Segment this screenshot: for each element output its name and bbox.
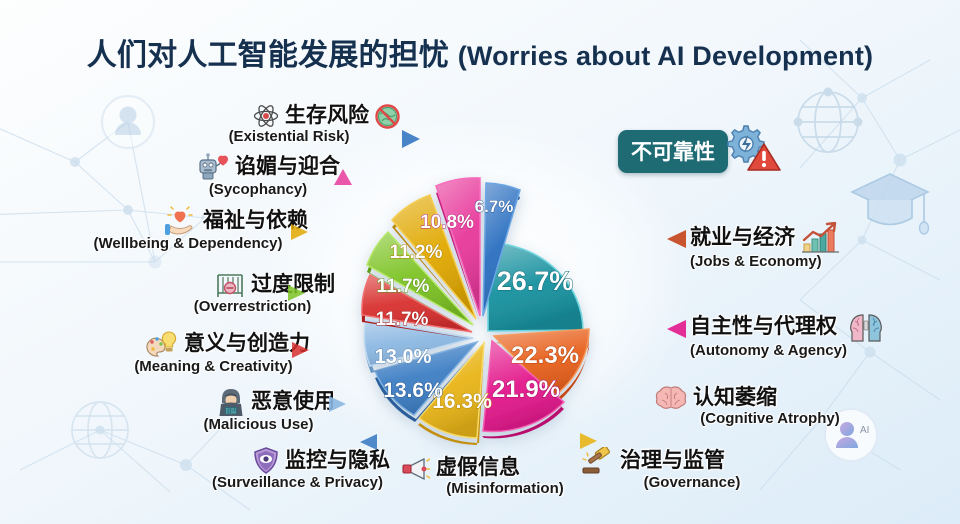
title-cn: 人们对人工智能发展的担忧 <box>87 39 449 72</box>
slice-value-unreliability: 26.7% <box>497 266 574 296</box>
shield-eye-icon <box>253 447 279 475</box>
person-avatar-icon <box>102 96 154 148</box>
unreliability-badge-label: 不可靠性 <box>631 136 715 166</box>
callout-misinformation: 虚假信息 (Misinformation) <box>400 455 580 497</box>
title-en: (Worries about AI Development) <box>458 41 874 71</box>
callout-malicious: D1101E1100 恶意使用 (Malicious Use) <box>160 387 335 433</box>
megaphone-icon <box>400 455 430 481</box>
marker-existential-risk <box>400 128 422 150</box>
ai-node-label: AI <box>860 425 869 436</box>
marker-autonomy <box>665 318 687 340</box>
callout-meaning: 意义与创造力 (Meaning & Creativity) <box>95 329 310 375</box>
slice-value-autonomy-agency: 21.9% <box>492 376 560 403</box>
marker-surveillance <box>358 432 378 452</box>
slice-value-meaning-creativity: 11.7% <box>377 276 430 297</box>
slice-value-overrestriction: 11.2% <box>390 242 443 263</box>
callout-label-en: (Malicious Use) <box>160 417 335 433</box>
fence-block-icon <box>215 271 245 299</box>
slice-value-sycophancy: 6.7% <box>475 197 514 216</box>
marker-malicious <box>327 394 347 414</box>
hacker-icon: D1101E1100 <box>217 387 245 417</box>
callout-cognitive-atrophy: 认知萎缩 (Cognitive Atrophy) <box>655 385 855 427</box>
slice-value-wellbeing-dependency: 10.8% <box>420 212 474 233</box>
callout-label-cn: 监控与隐私 <box>285 450 390 472</box>
callout-label-en: (Existential Risk) <box>200 129 400 145</box>
callout-overrestriction: 过度限制 (Overrestriction) <box>150 271 335 315</box>
slice-value-jobs-economy: 22.3% <box>511 342 579 369</box>
callout-sycophancy: 谄媚与迎合 (Sycophancy) <box>150 152 340 198</box>
marker-meaning <box>290 340 310 360</box>
marker-wellbeing <box>289 222 309 242</box>
marker-jobs <box>665 228 687 250</box>
callout-governance: 治理与监管 (Governance) <box>582 447 772 491</box>
growth-chart-icon <box>801 222 843 254</box>
palette-bulb-icon <box>144 329 178 359</box>
callout-existential-risk: 生存风险 (Existential Risk) <box>200 103 400 145</box>
callout-label-cn: 自主性与代理权 <box>690 316 837 338</box>
callout-label-cn: 恶意使用 <box>251 391 335 413</box>
dual-brain-heads-icon <box>843 311 889 343</box>
callout-label-cn: 治理与监管 <box>620 450 725 472</box>
callout-label-en: (Sycophancy) <box>150 182 340 198</box>
callout-label-cn: 认知萎缩 <box>693 387 777 409</box>
callout-label-en: (Autonomy & Agency) <box>690 343 925 359</box>
callout-label-en: (Surveillance & Privacy) <box>185 475 390 491</box>
callout-jobs: 就业与经济 (Jobs & Economy) <box>690 222 925 270</box>
callout-label-en: (Wellbeing & Dependency) <box>68 236 308 252</box>
callout-label-en: (Jobs & Economy) <box>690 254 925 270</box>
slice-value-malicious-use: 11.7% <box>376 309 429 330</box>
callout-label-en: (Governance) <box>582 475 772 491</box>
callout-surveillance: 监控与隐私 (Surveillance & Privacy) <box>185 447 390 491</box>
callout-label-en: (Meaning & Creativity) <box>95 359 310 375</box>
callout-label-cn: 虚假信息 <box>436 457 520 479</box>
brain-icon <box>655 385 687 411</box>
marker-governance <box>578 431 598 451</box>
marker-sycophancy <box>333 167 353 187</box>
callout-label-en: (Misinformation) <box>400 481 580 497</box>
page-title: 人们对人工智能发展的担忧 (Worries about AI Developme… <box>0 30 960 74</box>
svg-text:E1100: E1100 <box>226 410 236 414</box>
callout-label-cn: 生存风险 <box>285 105 369 127</box>
marker-overrestriction <box>286 283 306 303</box>
callout-label-cn: 谄媚与迎合 <box>235 156 340 178</box>
callout-label-en: (Overrestriction) <box>150 299 335 315</box>
slice-value-surveillance-privacy: 13.0% <box>375 346 432 368</box>
no-earth-icon <box>375 104 400 129</box>
slice-value-misinformation: 13.6% <box>383 379 443 402</box>
hand-heart-icon <box>163 206 197 236</box>
callout-wellbeing: 福祉与依赖 (Wellbeing & Dependency) <box>68 206 308 252</box>
robot-heart-icon <box>197 152 229 182</box>
gavel-icon <box>582 447 614 475</box>
badge-icon-group <box>722 122 782 174</box>
callout-label-en: (Cognitive Atrophy) <box>655 411 855 427</box>
callout-autonomy: 自主性与代理权 (Autonomy & Agency) <box>690 311 925 359</box>
unreliability-badge[interactable]: 不可靠性 <box>618 130 728 173</box>
callout-label-cn: 就业与经济 <box>690 227 795 249</box>
atom-icon <box>253 103 279 129</box>
